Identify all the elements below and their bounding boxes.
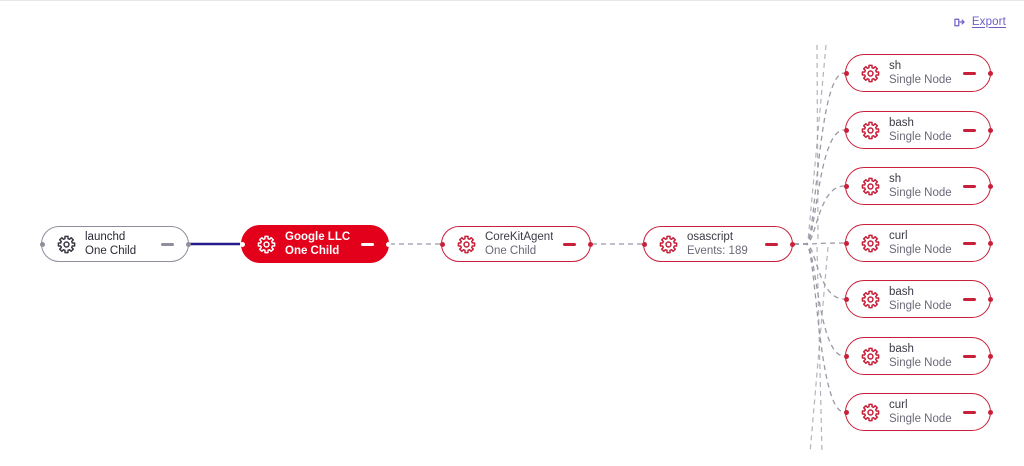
gear-icon	[57, 235, 76, 254]
process-node-leaf-6[interactable]: bashSingle Node	[845, 337, 991, 375]
gear-icon	[861, 177, 880, 196]
node-labels: launchdOne Child	[85, 231, 136, 258]
export-label: Export	[972, 16, 1006, 28]
node-subtitle: Single Node	[889, 74, 952, 87]
node-title: curl	[889, 399, 952, 412]
node-port-out[interactable]	[988, 354, 993, 359]
gear-icon	[257, 235, 276, 254]
node-subtitle: Single Node	[889, 357, 952, 370]
node-subtitle: Single Node	[889, 413, 952, 426]
process-node-launchd[interactable]: launchdOne Child	[41, 226, 189, 262]
node-port-out[interactable]	[988, 71, 993, 76]
node-labels: shSingle Node	[889, 173, 952, 200]
process-node-leaf-5[interactable]: bashSingle Node	[845, 280, 991, 318]
node-collapse-handle[interactable]	[963, 355, 976, 358]
gear-icon	[457, 235, 476, 254]
node-subtitle: Events: 189	[687, 245, 748, 258]
node-port-in[interactable]	[844, 297, 849, 302]
process-node-osascript[interactable]: osascriptEvents: 189	[643, 226, 793, 262]
node-port-in[interactable]	[440, 242, 445, 247]
node-port-out[interactable]	[988, 184, 993, 189]
node-labels: CoreKitAgentOne Child	[485, 231, 553, 258]
node-collapse-handle[interactable]	[563, 243, 576, 246]
node-port-out[interactable]	[790, 242, 795, 247]
node-subtitle: One Child	[285, 245, 350, 258]
node-title: curl	[889, 230, 952, 243]
node-subtitle: Single Node	[889, 244, 952, 257]
node-title: bash	[889, 117, 952, 130]
process-node-leaf-7[interactable]: curlSingle Node	[845, 393, 991, 431]
edge-trunk-guide-4	[810, 247, 828, 453]
node-title: osascript	[687, 231, 748, 244]
node-labels: bashSingle Node	[889, 343, 952, 370]
node-port-out[interactable]	[386, 242, 391, 247]
edge-trunk-guide-1	[817, 45, 818, 241]
node-subtitle: Single Node	[889, 187, 952, 200]
node-port-in[interactable]	[844, 410, 849, 415]
process-node-leaf-4[interactable]: curlSingle Node	[845, 224, 991, 262]
node-title: launchd	[85, 231, 136, 244]
node-port-in[interactable]	[844, 184, 849, 189]
process-node-google-llc[interactable]: Google LLCOne Child	[241, 225, 389, 263]
gear-icon	[861, 403, 880, 422]
edge-osascript-to-leaf-5	[794, 244, 844, 299]
node-subtitle: One Child	[85, 245, 136, 258]
node-labels: curlSingle Node	[889, 399, 952, 426]
node-port-in[interactable]	[844, 71, 849, 76]
edge-trunk-guide-3	[817, 247, 822, 453]
node-collapse-handle[interactable]	[161, 243, 174, 246]
export-button[interactable]: Export	[953, 15, 1006, 28]
export-icon	[953, 15, 966, 28]
gear-icon	[659, 235, 678, 254]
node-labels: osascriptEvents: 189	[687, 231, 748, 258]
node-title: CoreKitAgent	[485, 231, 553, 244]
edge-osascript-to-leaf-7	[794, 244, 844, 412]
node-subtitle: Single Node	[889, 300, 952, 313]
node-port-in[interactable]	[40, 242, 45, 247]
node-labels: Google LLCOne Child	[285, 231, 350, 258]
node-collapse-handle[interactable]	[361, 243, 374, 246]
edge-osascript-to-leaf-3	[794, 186, 844, 244]
process-node-leaf-1[interactable]: shSingle Node	[845, 54, 991, 92]
node-title: sh	[889, 60, 952, 73]
node-collapse-handle[interactable]	[963, 129, 976, 132]
node-title: Google LLC	[285, 231, 350, 244]
gear-icon	[861, 290, 880, 309]
node-port-out[interactable]	[988, 297, 993, 302]
gear-icon	[861, 347, 880, 366]
node-subtitle: Single Node	[889, 131, 952, 144]
node-collapse-handle[interactable]	[765, 243, 778, 246]
node-port-out[interactable]	[186, 242, 191, 247]
node-collapse-handle[interactable]	[963, 185, 976, 188]
node-port-in[interactable]	[844, 354, 849, 359]
gear-icon	[861, 64, 880, 83]
process-tree-canvas[interactable]: Export launchdOne ChildGoogle LLCOne Chi…	[0, 0, 1024, 465]
edge-osascript-to-leaf-2	[794, 130, 844, 244]
process-node-corekitagent[interactable]: CoreKitAgentOne Child	[441, 226, 591, 262]
node-port-in[interactable]	[844, 128, 849, 133]
node-labels: bashSingle Node	[889, 286, 952, 313]
edge-trunk-guide-2	[808, 45, 826, 241]
node-collapse-handle[interactable]	[963, 72, 976, 75]
node-title: sh	[889, 173, 952, 186]
node-port-out[interactable]	[988, 128, 993, 133]
process-node-leaf-2[interactable]: bashSingle Node	[845, 111, 991, 149]
node-port-in[interactable]	[844, 241, 849, 246]
node-port-out[interactable]	[588, 242, 593, 247]
edge-osascript-to-leaf-6	[794, 244, 844, 356]
node-port-out[interactable]	[988, 410, 993, 415]
node-labels: shSingle Node	[889, 60, 952, 87]
gear-icon	[861, 234, 880, 253]
gear-icon	[861, 121, 880, 140]
node-port-out[interactable]	[988, 241, 993, 246]
node-title: bash	[889, 343, 952, 356]
edge-osascript-to-leaf-1	[794, 73, 844, 244]
edge-osascript-to-leaf-4	[794, 243, 844, 244]
node-labels: curlSingle Node	[889, 230, 952, 257]
node-port-in[interactable]	[240, 242, 245, 247]
node-labels: bashSingle Node	[889, 117, 952, 144]
node-subtitle: One Child	[485, 245, 553, 258]
node-collapse-handle[interactable]	[963, 411, 976, 414]
node-title: bash	[889, 286, 952, 299]
node-collapse-handle[interactable]	[963, 242, 976, 245]
process-node-leaf-3[interactable]: shSingle Node	[845, 167, 991, 205]
node-collapse-handle[interactable]	[963, 298, 976, 301]
node-port-in[interactable]	[642, 242, 647, 247]
